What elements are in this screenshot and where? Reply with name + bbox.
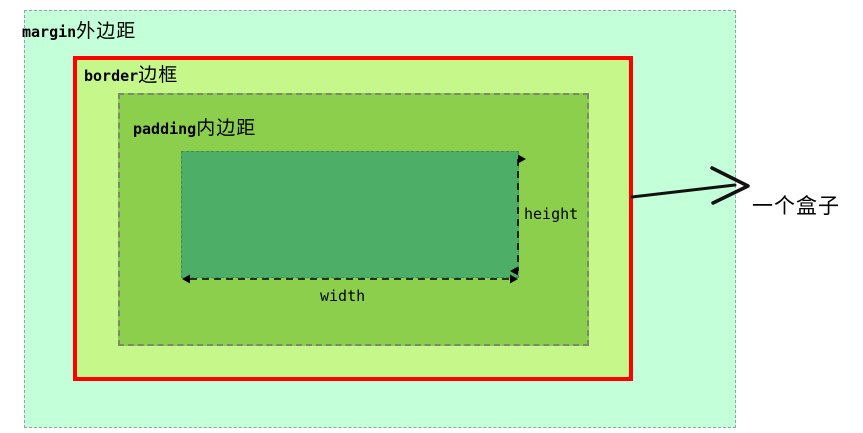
border-translation: 边框: [138, 64, 178, 86]
margin-label: margin外边距: [22, 22, 136, 41]
margin-translation: 外边距: [76, 20, 136, 42]
padding-translation: 内边距: [196, 117, 256, 139]
border-term: border: [84, 67, 138, 85]
box-model-diagram: margin外边距 border边框 padding内边距 content wi…: [0, 0, 863, 433]
callout-text: 一个盒子: [752, 196, 840, 217]
content-region: [181, 151, 519, 278]
padding-label: padding内边距: [133, 119, 256, 138]
border-label: border边框: [84, 66, 178, 85]
width-label: width: [320, 289, 365, 304]
margin-term: margin: [22, 23, 76, 41]
padding-term: padding: [133, 120, 196, 138]
height-label: height: [524, 207, 578, 222]
